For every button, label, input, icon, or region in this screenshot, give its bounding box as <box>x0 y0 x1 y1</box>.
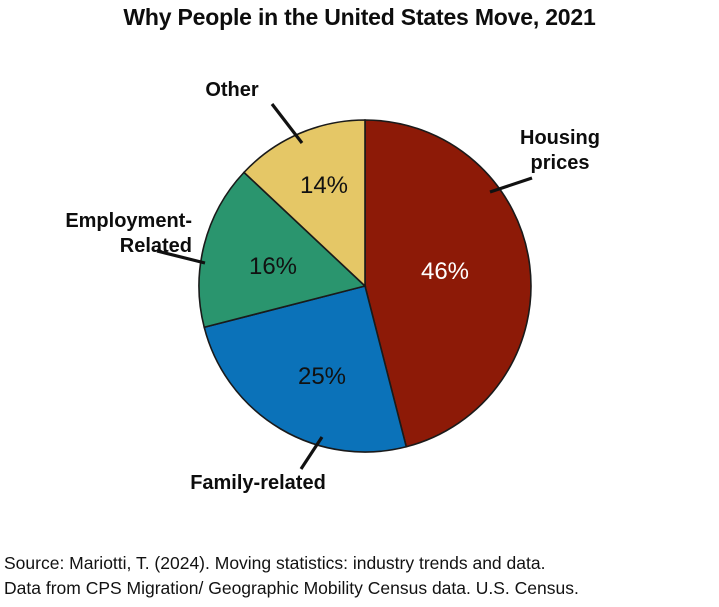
slice-label-employment-related: Employment- Related <box>4 209 192 259</box>
source-note: Source: Mariotti, T. (2024). Moving stat… <box>4 551 718 601</box>
slice-label-family-related: Family-related <box>118 471 398 496</box>
slice-label-housing-prices: Housing prices <box>480 126 640 176</box>
slice-value-housing-prices: 46% <box>385 258 505 286</box>
slice-value-other: 14% <box>264 172 384 200</box>
pie-chart-figure: Why People in the United States Move, 20… <box>0 0 719 607</box>
leader-line-other <box>272 104 302 143</box>
slice-label-other: Other <box>162 78 302 103</box>
pie-chart-graphic <box>0 0 719 607</box>
slice-value-family-related: 25% <box>262 363 382 391</box>
slice-value-employment-related: 16% <box>213 253 333 281</box>
